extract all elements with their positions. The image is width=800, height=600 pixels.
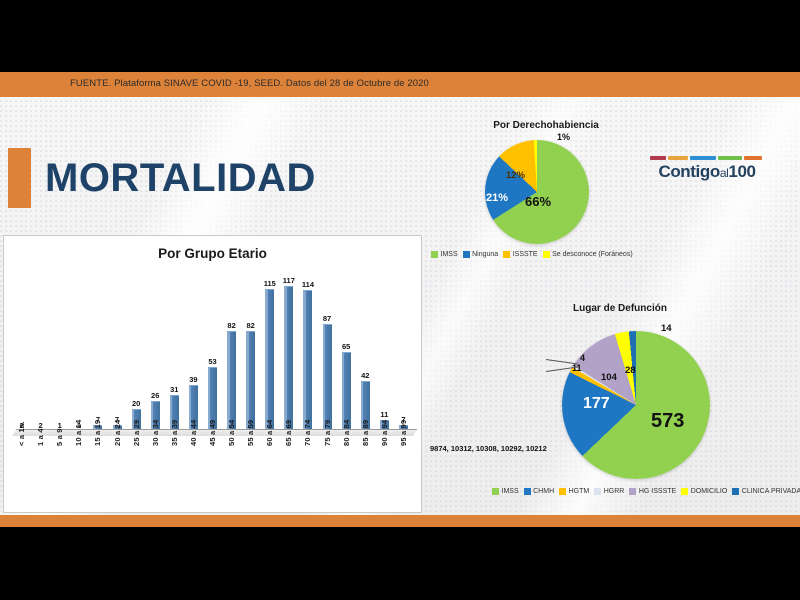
legend-label: IMSS — [441, 251, 458, 258]
legend-item: ISSSTE — [503, 251, 537, 258]
legend-label: IMSS — [502, 488, 519, 495]
top-black-band — [0, 0, 800, 72]
x-tick-label: 15 a 19 — [93, 376, 102, 446]
pie2-label-hg-issste: 104 — [601, 372, 617, 383]
bottom-black-band — [0, 527, 800, 600]
x-tick-label: 1 a 4 — [36, 376, 45, 446]
x-tick: 45 a 49 — [203, 376, 222, 446]
x-tick: 70 a 74 — [298, 376, 317, 446]
legend-label: HGTM — [569, 488, 590, 495]
logo-bar-4 — [744, 156, 762, 160]
bar-value-label: 115 — [264, 280, 276, 288]
pie1-label-desconoce: 1% — [557, 132, 570, 142]
legend-swatch — [503, 251, 510, 258]
logo-bar-2 — [690, 156, 716, 160]
legend-label: HGRR — [604, 488, 625, 495]
legend-label: Ninguna — [472, 251, 498, 258]
bar-chart-title: Por Grupo Etario — [4, 246, 421, 261]
x-tick-label: 30 a 34 — [151, 376, 160, 446]
bar-chart-panel: Por Grupo Etario 22117720263139538282115… — [3, 235, 422, 513]
x-tick: 5 a 9 — [50, 376, 69, 446]
x-tick-label: 80 a 84 — [342, 376, 351, 446]
x-tick: 30 a 34 — [146, 376, 165, 446]
legend-item: HGRR — [594, 488, 624, 495]
x-tick-label: 90 a 94 — [380, 376, 389, 446]
pie2-label-clinica-privada: 14 — [661, 323, 672, 334]
x-tick-label: 55 a 59 — [246, 376, 255, 446]
pie1-label-ninguna: 21% — [486, 192, 508, 204]
bar-value-label: 65 — [342, 343, 350, 351]
bar-chart-x-ticks: < a 1a.1 a 45 a 910 a 1415 a 1920 a 2425… — [12, 376, 413, 446]
bar-value-label: 87 — [323, 315, 331, 323]
bar-value-label: 117 — [283, 277, 295, 285]
legend-label: CLINICA PRIVADA — [742, 488, 800, 495]
contigo-al-100-logo: Contigoal100 — [648, 154, 766, 188]
x-tick: 1 a 4 — [31, 376, 50, 446]
legend-label: CHMH — [533, 488, 554, 495]
legend-item: Ninguna — [463, 251, 499, 258]
x-tick-label: 70 a 74 — [303, 376, 312, 446]
legend-swatch — [629, 488, 636, 495]
legend-swatch — [543, 251, 550, 258]
bar-value-label: 114 — [302, 281, 314, 289]
x-tick: 40 a 44 — [184, 376, 203, 446]
legend-item: HG ISSSTE — [629, 488, 676, 495]
source-text: FUENTE. Plataforma SINAVE COVID -19, SEE… — [70, 78, 429, 89]
logo-bar-3 — [718, 156, 742, 160]
x-tick-label: 45 a 49 — [208, 376, 217, 446]
x-tick: 85 a 89 — [356, 376, 375, 446]
legend-swatch — [732, 488, 739, 495]
x-tick: 60 a 64 — [260, 376, 279, 446]
pie2-title: Lugar de Defunción — [540, 303, 700, 314]
x-tick: 95 a 99 — [394, 376, 413, 446]
x-tick: 25 a 29 — [127, 376, 146, 446]
x-tick: 35 a 39 — [165, 376, 184, 446]
bottom-orange-band — [0, 515, 800, 527]
x-tick-label: 25 a 29 — [132, 376, 141, 446]
x-tick-label: 40 a 44 — [189, 376, 198, 446]
pie1-label-issste: 12% — [506, 170, 525, 181]
legend-label: DOMICILIO — [691, 488, 728, 495]
x-tick-label: 95 a 99 — [399, 376, 408, 446]
legend-swatch — [463, 251, 470, 258]
legend-label: HG ISSSTE — [639, 488, 676, 495]
x-tick: 65 a 69 — [279, 376, 298, 446]
legend-swatch — [492, 488, 499, 495]
logo-bar-0 — [650, 156, 666, 160]
footnote-codes: 9874, 10312, 10308, 10292, 10212 — [430, 444, 547, 454]
legend-swatch — [559, 488, 566, 495]
pie2-label-hgrr: 4 — [580, 353, 585, 363]
x-tick: 90 a 94 — [375, 376, 394, 446]
bar-value-label: 53 — [208, 358, 216, 366]
x-tick-label: 75 a 79 — [323, 376, 332, 446]
x-tick: < a 1a. — [12, 376, 31, 446]
legend-item: IMSS — [492, 488, 519, 495]
legend-swatch — [594, 488, 601, 495]
x-tick: 20 a 24 — [107, 376, 126, 446]
x-tick: 10 a 14 — [69, 376, 88, 446]
legend-item: DOMICILIO — [681, 488, 727, 495]
logo-bar-1 — [668, 156, 688, 160]
bar-value-label: 82 — [227, 322, 235, 330]
legend-item: HGTM — [559, 488, 589, 495]
x-tick-label: < a 1a. — [17, 376, 26, 446]
legend-item: CLINICA PRIVADA — [732, 488, 800, 495]
x-tick-label: 85 a 89 — [361, 376, 370, 446]
x-tick-label: 10 a 14 — [74, 376, 83, 446]
logo-word-main: Contigo — [658, 162, 719, 182]
x-tick: 50 a 54 — [222, 376, 241, 446]
pie1-title: Por Derechohabiencia — [476, 120, 616, 131]
x-tick-label: 5 a 9 — [55, 376, 64, 446]
x-tick: 80 a 84 — [337, 376, 356, 446]
legend-swatch — [681, 488, 688, 495]
x-tick: 75 a 79 — [318, 376, 337, 446]
pie2-legend: IMSSCHMHHGTMHGRRHG ISSSTEDOMICILIOCLINIC… — [492, 488, 800, 495]
pie1-label-imss: 66% — [525, 194, 551, 209]
title-accent-bar — [8, 148, 31, 208]
x-tick-label: 65 a 69 — [284, 376, 293, 446]
logo-wordmark: Contigoal100 — [648, 162, 766, 183]
pie2-label-domicilio: 28 — [625, 365, 636, 376]
slide-screenshot: FUENTE. Plataforma SINAVE COVID -19, SEE… — [0, 0, 800, 600]
legend-item: CHMH — [524, 488, 555, 495]
page-title: MORTALIDAD — [45, 152, 316, 204]
bar-value-label: 82 — [247, 322, 255, 330]
x-tick-label: 20 a 24 — [113, 376, 122, 446]
x-tick: 15 a 19 — [88, 376, 107, 446]
legend-label: Se desconoce (Foráneos) — [552, 251, 633, 258]
logo-color-bars — [650, 156, 764, 160]
logo-word-num: 100 — [728, 162, 755, 182]
legend-item: Se desconoce (Foráneos) — [543, 251, 633, 258]
x-tick-label: 50 a 54 — [227, 376, 236, 446]
legend-swatch — [431, 251, 438, 258]
legend-swatch — [524, 488, 531, 495]
pie2-label-imss: 573 — [651, 410, 684, 433]
legend-item: IMSS — [431, 251, 458, 258]
logo-word-al: al — [720, 163, 729, 183]
x-tick-label: 60 a 64 — [265, 376, 274, 446]
pie2-label-chmh: 177 — [583, 395, 610, 413]
pie1-legend: IMSSNingunaISSSTESe desconoce (Foráneos) — [431, 251, 633, 258]
x-tick: 55 a 59 — [241, 376, 260, 446]
legend-label: ISSSTE — [513, 251, 538, 258]
x-tick-label: 35 a 39 — [170, 376, 179, 446]
